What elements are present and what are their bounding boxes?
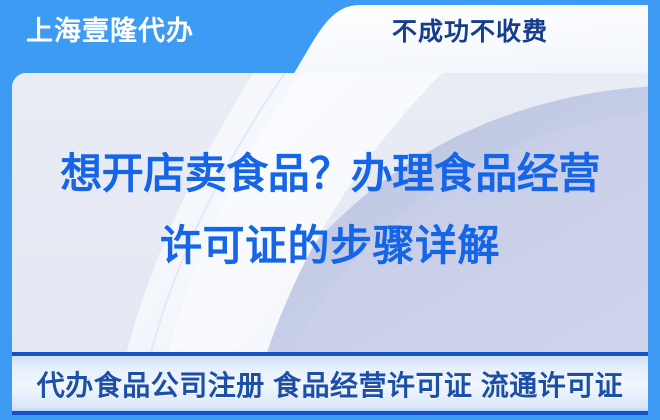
keywords-bar-text: 代办食品公司注册 食品经营许可证 流通许可证 [37, 364, 624, 404]
headline-line-2: 许可证的步骤详解 [12, 210, 648, 282]
headline-line-1: 想开店卖食品？办理食品经营 [12, 138, 648, 210]
brand-name: 上海壹隆代办 [26, 18, 194, 45]
promo-banner: 上海壹隆代办 不成功不收费 想开店卖食品？办理食品经营 许可证的步骤详解 代办食… [0, 0, 660, 420]
slogan-text: 不成功不收费 [392, 20, 548, 45]
keywords-bar: 代办食品公司注册 食品经营许可证 流通许可证 [12, 352, 648, 415]
headline: 想开店卖食品？办理食品经营 许可证的步骤详解 [12, 138, 648, 282]
